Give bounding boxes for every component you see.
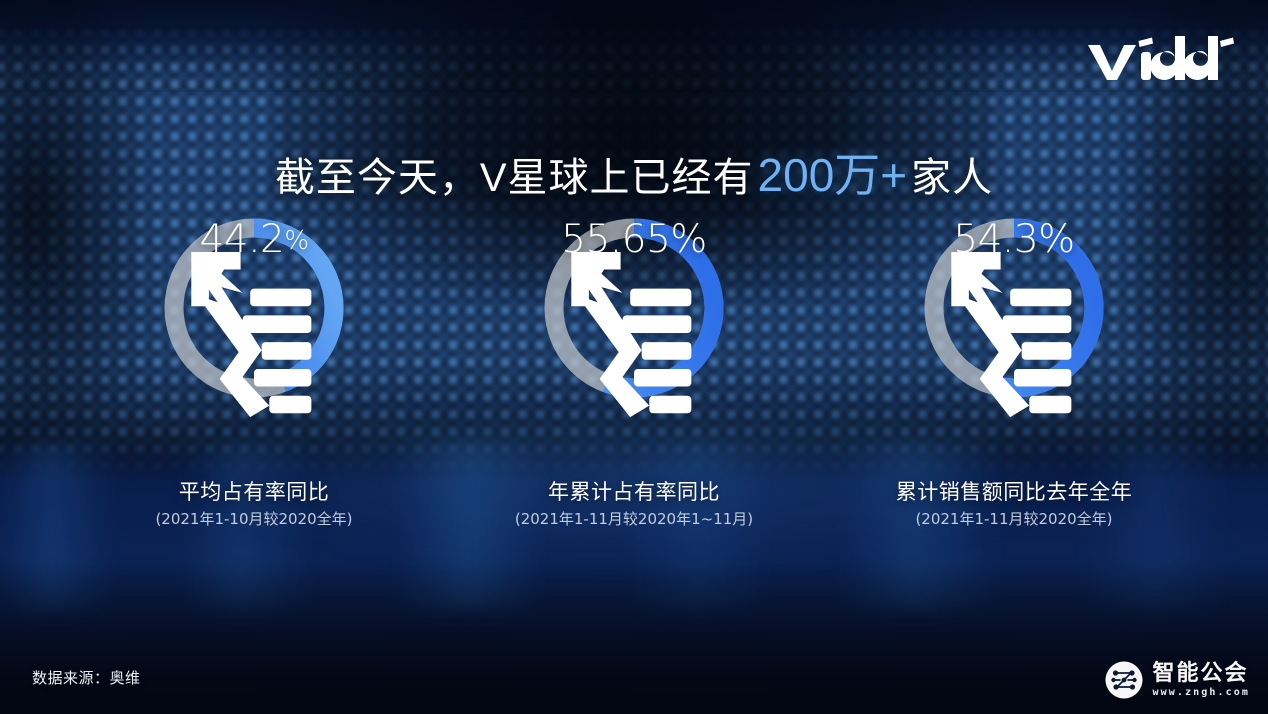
kpi-label-group: 年累计占有率同比 (2021年1-11月较2020年1~11月) — [494, 480, 774, 528]
headline-suffix: 家人 — [911, 156, 993, 200]
kpi-label-row: 平均占有率同比 (2021年1-10月较2020全年) 年累计占有率同比 (20… — [0, 480, 1268, 528]
donut-center: 44.2% — [164, 218, 344, 398]
watermark-text: 智能公会 www.zngh.com — [1153, 662, 1250, 698]
kpi-label: 累计销售额同比去年全年 — [874, 480, 1154, 506]
vidda-logo — [1086, 36, 1234, 89]
watermark-brand: 智能公会 — [1153, 662, 1250, 684]
headline-highlight: 200万+ — [754, 149, 912, 201]
kpi-sublabel: (2021年1-11月较2020年1~11月) — [494, 510, 774, 528]
kpi-card: 44.2% — [134, 218, 374, 398]
donut-chart: 54.3% — [924, 218, 1104, 398]
page-headline: 截至今天，V星球上已经有200万+家人 — [0, 139, 1268, 205]
kpi-label: 平均占有率同比 — [114, 480, 394, 506]
kpi-label-group: 累计销售额同比去年全年 (2021年1-11月较2020全年) — [874, 480, 1154, 528]
headline-prefix: 截至今天，V星球上已经有 — [275, 156, 754, 200]
watermark-url: www.zngh.com — [1153, 688, 1250, 698]
donut-center: 55.65% — [544, 218, 724, 398]
kpi-label: 年累计占有率同比 — [494, 480, 774, 506]
slide-canvas: 截至今天，V星球上已经有200万+家人 — [0, 0, 1268, 714]
donut-chart: 55.65% — [544, 218, 724, 398]
trending-up-bar-icon — [949, 243, 1079, 423]
trending-up-bar-icon — [569, 243, 699, 423]
donut-center: 54.3% — [924, 218, 1104, 398]
donut-chart: 44.2% — [164, 218, 344, 398]
vidda-logo-mark — [1086, 36, 1234, 82]
site-watermark: 智能公会 www.zngh.com — [1104, 660, 1250, 700]
kpi-card: 54.3% — [894, 218, 1134, 398]
kpi-sublabel: (2021年1-10月较2020全年) — [114, 510, 394, 528]
kpi-donut-row: 44.2% — [0, 218, 1268, 398]
data-source-note: 数据来源：奥维 — [32, 667, 141, 688]
kpi-label-group: 平均占有率同比 (2021年1-10月较2020全年) — [114, 480, 394, 528]
zngh-network-icon — [1104, 660, 1144, 700]
bottom-fade — [0, 564, 1268, 714]
kpi-sublabel: (2021年1-11月较2020全年) — [874, 510, 1154, 528]
trending-up-bar-icon — [189, 243, 319, 423]
kpi-card: 55.65% — [514, 218, 754, 398]
